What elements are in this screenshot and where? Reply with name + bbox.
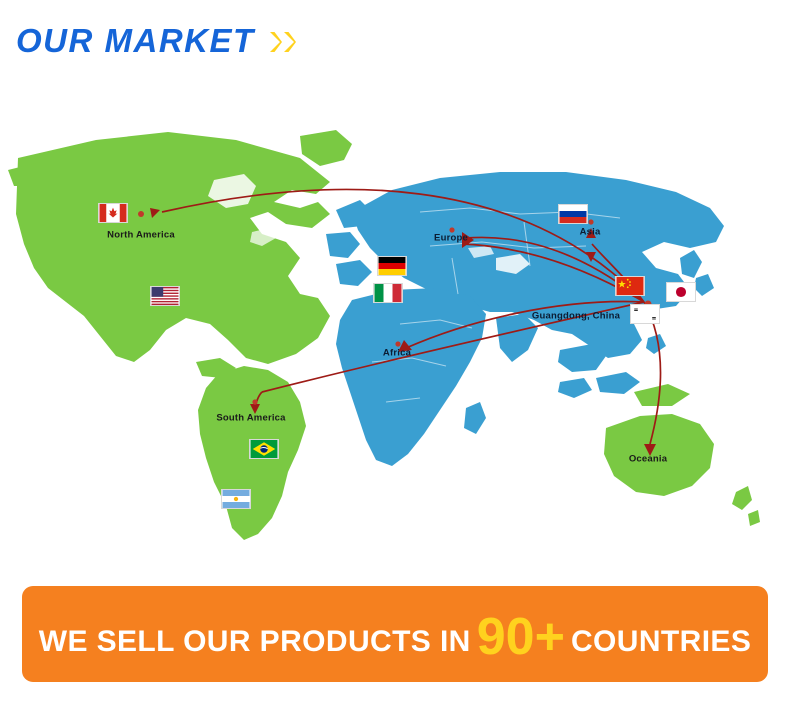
flag-germany-icon xyxy=(377,256,407,276)
flag-argentina-icon xyxy=(221,489,251,509)
region-label-south-america: South America xyxy=(216,413,285,424)
flag-russia-icon xyxy=(558,204,588,224)
page-title-text: OUR MARKET xyxy=(16,24,255,57)
region-label-north-america: North America xyxy=(107,230,175,241)
flag-south-korea-icon xyxy=(630,304,660,324)
flag-usa-icon xyxy=(150,286,180,306)
landmass-oceania xyxy=(604,384,760,526)
region-label-africa: Africa xyxy=(383,348,411,359)
double-chevron-right-icon xyxy=(269,31,296,53)
region-label-europe: Europe xyxy=(434,233,468,244)
landmass-north-america xyxy=(8,130,352,364)
promo-country-count: 90+ xyxy=(471,607,571,667)
promo-banner: WE SELL OUR PRODUCTS IN 90+ COUNTRIES xyxy=(22,586,768,682)
flag-italy-icon xyxy=(373,283,403,303)
flag-brazil-icon xyxy=(249,439,279,459)
flag-china-icon xyxy=(615,276,645,296)
world-map: .g { fill:#7ac943; } .b { fill:#3a9fd1; … xyxy=(0,62,790,572)
world-map-graphic: .g { fill:#7ac943; } .b { fill:#3a9fd1; … xyxy=(0,62,790,572)
flag-canada-icon xyxy=(98,203,128,223)
page-title: OUR MARKET xyxy=(16,18,296,62)
region-label-oceania: Oceania xyxy=(629,454,667,465)
hub-label-guangdong: Guangdong, China xyxy=(532,311,620,322)
promo-banner-line: WE SELL OUR PRODUCTS IN 90+ COUNTRIES xyxy=(39,604,752,664)
flag-japan-icon xyxy=(666,282,696,302)
region-label-asia: Asia xyxy=(580,227,601,238)
promo-text-before: WE SELL OUR PRODUCTS IN xyxy=(39,625,471,659)
promo-text-after: COUNTRIES xyxy=(571,625,751,659)
